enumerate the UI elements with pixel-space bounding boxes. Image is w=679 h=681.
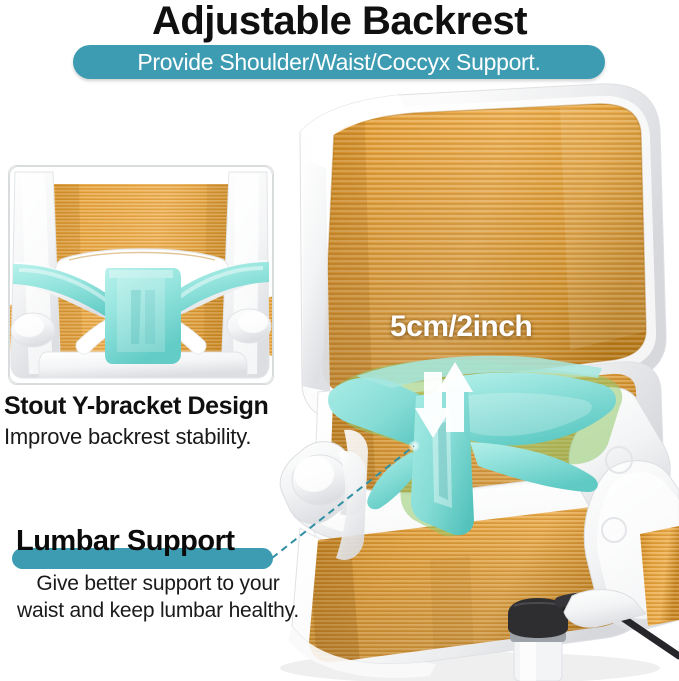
measurement-label: 5cm/2inch	[390, 310, 532, 344]
lumbar-support-body: Give better support to your waist and ke…	[8, 570, 308, 624]
lumbar-support-heading: Lumbar Support	[16, 525, 336, 558]
infographic-canvas: Adjustable Backrest Provide Shoulder/Wai…	[0, 0, 679, 681]
lumbar-support-body-line1: Give better support to your	[36, 572, 279, 595]
lumbar-support-body-line2: waist and keep lumbar healthy.	[17, 599, 299, 622]
y-bracket-closeup-card	[8, 165, 274, 385]
y-bracket-closeup-image	[9, 166, 273, 384]
y-bracket-heading: Stout Y-bracket Design	[4, 392, 324, 421]
y-bracket-body: Improve backrest stability.	[4, 424, 334, 450]
subtitle-pill: Provide Shoulder/Waist/Coccyx Support.	[73, 45, 605, 79]
subtitle-text: Provide Shoulder/Waist/Coccyx Support.	[73, 45, 605, 79]
page-title: Adjustable Backrest	[0, 0, 679, 44]
